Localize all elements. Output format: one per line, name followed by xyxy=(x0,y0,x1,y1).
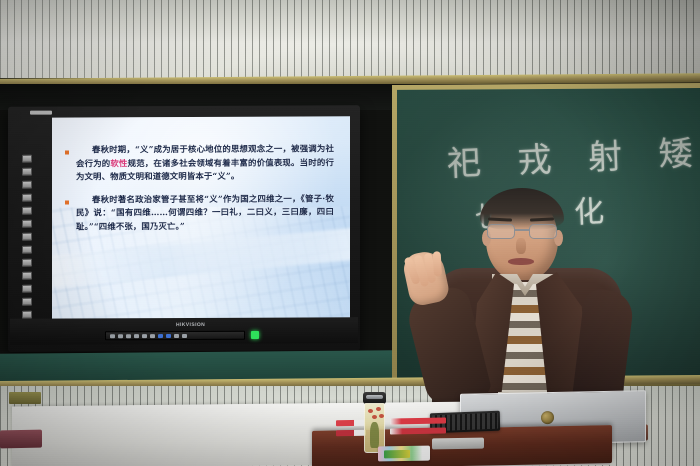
chalk-box-label xyxy=(384,450,410,458)
control-button[interactable] xyxy=(118,334,123,338)
lower-board-strip xyxy=(0,350,392,381)
control-button[interactable] xyxy=(150,334,155,338)
bullet-icon xyxy=(65,200,69,204)
lecturer-nose xyxy=(516,238,526,254)
display-side-button[interactable] xyxy=(22,246,32,254)
colored-chalk-box[interactable] xyxy=(378,446,430,462)
display-side-button[interactable] xyxy=(22,155,32,163)
upper-slatted-wall xyxy=(0,0,700,78)
slide-paragraph-1-text: 春秋时期，“义”成为居于核心地位的思想观念之一，被强调为社会行为的软性规范，在诸… xyxy=(76,142,334,184)
lecturer-mouth xyxy=(508,258,534,265)
control-button-blue[interactable] xyxy=(166,334,171,338)
goji-berry xyxy=(372,415,377,419)
wall-mounted-box xyxy=(9,392,41,404)
slide-text-body: 春秋时期，“义”成为居于核心地位的思想观念之一，被强调为社会行为的软性规范，在诸… xyxy=(52,116,350,234)
marker-pen[interactable] xyxy=(336,420,366,427)
display-side-button-column[interactable] xyxy=(22,155,34,332)
display-side-button[interactable] xyxy=(22,220,32,228)
laptop-logo-icon xyxy=(541,411,554,424)
control-button[interactable] xyxy=(142,334,147,338)
chalk-writing-line-1: 祀 戎 射 矮 xyxy=(446,125,700,185)
marker-pen[interactable] xyxy=(336,430,366,437)
glasses-bridge xyxy=(515,229,529,231)
display-brand-label: HIKVISION xyxy=(176,322,205,328)
goji-berry xyxy=(379,414,384,418)
interactive-whiteboard[interactable]: 春秋时期，“义”成为居于核心地位的思想观念之一，被强调为社会行为的软性规范，在诸… xyxy=(8,105,360,352)
glasses-lens-left xyxy=(487,224,515,239)
slide-paragraph-2-text: 春秋时著名政治家管子甚至将“义”作为国之四维之一，《管子·牧民》说：“国有四维…… xyxy=(76,192,334,234)
display-side-button[interactable] xyxy=(22,181,32,189)
slide-paragraph-2: 春秋时著名政治家管子甚至将“义”作为国之四维之一，《管子·牧民》说：“国有四维…… xyxy=(65,192,334,234)
display-side-button[interactable] xyxy=(22,207,32,215)
desk-edge-left xyxy=(0,430,42,449)
control-button[interactable] xyxy=(182,333,187,337)
slide-paragraph-1: 春秋时期，“义”成为居于核心地位的思想观念之一，被强调为社会行为的软性规范，在诸… xyxy=(65,142,334,184)
display-side-button[interactable] xyxy=(22,272,32,280)
paragraph-1-highlight: 软性 xyxy=(110,158,127,168)
display-side-button[interactable] xyxy=(22,168,32,176)
control-button[interactable] xyxy=(174,333,179,337)
paragraph-2-pre: 春秋时著名政治家管子甚至将“义”作为国之四维之一，《管子·牧民》说：“国有四维…… xyxy=(76,193,334,231)
glasses-lens-right xyxy=(529,224,557,239)
control-button-blue[interactable] xyxy=(158,334,163,338)
tea-leaf xyxy=(370,422,379,448)
display-side-button[interactable] xyxy=(22,311,32,319)
marker-pen[interactable] xyxy=(390,428,446,435)
display-side-button[interactable] xyxy=(22,285,32,293)
lecturer xyxy=(432,186,622,416)
bullet-icon xyxy=(65,151,69,155)
display-side-button[interactable] xyxy=(22,298,32,306)
control-button[interactable] xyxy=(110,334,115,338)
control-button[interactable] xyxy=(126,334,131,338)
power-led-icon xyxy=(251,331,259,339)
control-button[interactable] xyxy=(134,334,139,338)
goji-berry xyxy=(368,409,373,413)
marker-pen[interactable] xyxy=(390,418,446,425)
metal-tray[interactable] xyxy=(432,438,484,450)
display-side-button[interactable] xyxy=(22,194,32,202)
display-side-button[interactable] xyxy=(22,233,32,241)
display-control-strip[interactable] xyxy=(105,331,245,341)
display-side-button[interactable] xyxy=(22,259,32,267)
presentation-slide[interactable]: 春秋时期，“义”成为居于核心地位的思想观念之一，被强调为社会行为的软性规范，在诸… xyxy=(52,116,350,332)
goji-berry xyxy=(376,407,381,411)
classroom-scene: 祀 戎 射 矮 也 文 化 xyxy=(0,0,700,466)
finger xyxy=(433,251,442,276)
